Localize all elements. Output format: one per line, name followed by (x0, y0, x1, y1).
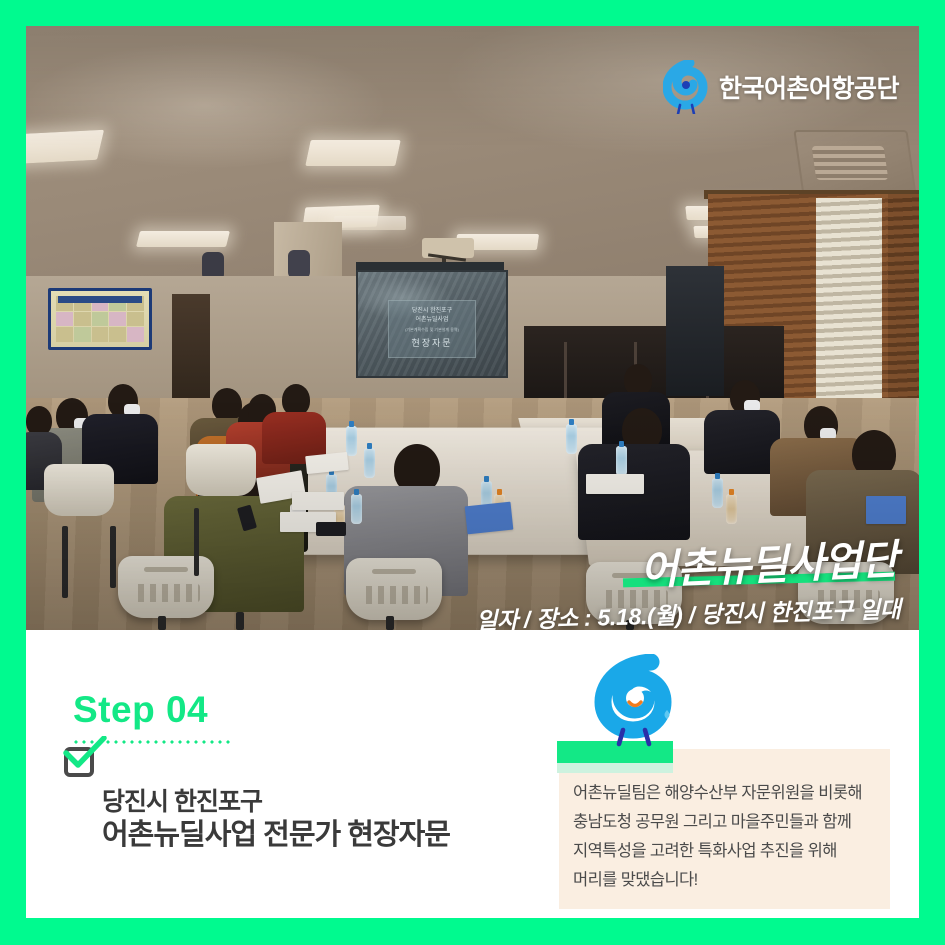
brochure (866, 496, 906, 524)
card-frame: 당진시 한진포구 어촌뉴딜사업 (기본계획수립 및 기본설계 용역) 현장자문 (0, 0, 945, 945)
brand-name: 한국어촌어항공단 (719, 69, 899, 105)
water-bottle (616, 446, 627, 476)
chair (346, 558, 442, 620)
projection-screen: 당진시 한진포구 어촌뉴딜사업 (기본계획수립 및 기본설계 용역) 현장자문 (356, 270, 508, 378)
green-bar-shadow (557, 763, 673, 773)
ceiling-projector (422, 238, 474, 258)
projection-slide: 당진시 한진포구 어촌뉴딜사업 (기본계획수립 및 기본설계 용역) 현장자문 (388, 300, 476, 358)
water-bottle (351, 494, 362, 524)
description-box: 어촌뉴딜팀은 해양수산부 자문위원을 비롯해 충남도청 공무원 그리고 마을주민… (559, 749, 890, 909)
water-drop-mascot-icon (663, 60, 709, 114)
headline-line-1: 당진시 한진포구 (102, 787, 450, 817)
slide-line1: 당진시 한진포구 (412, 308, 452, 314)
dark-panel (666, 266, 724, 396)
ceiling-light (136, 231, 230, 247)
window-blinds-edge (888, 194, 919, 426)
water-bottle (346, 426, 357, 456)
ceiling-vent (793, 130, 916, 196)
water-bottle (712, 478, 723, 508)
doorway (172, 294, 210, 412)
mascot-logo (583, 654, 693, 750)
brand-logo: 한국어촌어항공단 (663, 60, 899, 114)
wall-organization-chart (48, 288, 152, 350)
chair (44, 464, 114, 516)
slide-line3: (기본계획수립 및 기본설계 용역) (389, 325, 475, 334)
headline-block: 당진시 한진포구 어촌뉴딜사업 전문가 현장자문 (102, 787, 450, 853)
window-blinds-lit (816, 198, 882, 424)
chair (118, 556, 214, 618)
meeting-photo: 당진시 한진포구 어촌뉴딜사업 (기본계획수립 및 기본설계 용역) 현장자문 (26, 26, 919, 630)
slide-line2: 어촌뉴딜사업 (415, 317, 448, 323)
brochure (465, 502, 514, 535)
ceiling-light (305, 140, 401, 166)
ceiling-light (334, 216, 406, 230)
water-bottle (364, 448, 375, 478)
handwriting-title: 어촌뉴딜사업단 (639, 525, 898, 596)
screen-frame (356, 262, 504, 270)
document-paper (292, 492, 344, 510)
water-bottle (566, 424, 577, 454)
bottom-panel: Step 04 당진시 한진포구 어촌뉴딜사업 전문가 현장자문 어촌뉴딜팀은 … (26, 630, 919, 918)
ceiling-light (26, 130, 104, 164)
smartphone (316, 522, 346, 536)
step-label: Step 04 (73, 689, 208, 731)
headline-line-2: 어촌뉴딜사업 전문가 현장자문 (102, 817, 450, 853)
slide-line4: 현장자문 (389, 339, 475, 348)
check-mark-icon (63, 736, 107, 770)
beverage-bottle (726, 494, 737, 524)
water-drop-mascot-icon (583, 654, 693, 750)
description-text: 어촌뉴딜팀은 해양수산부 자문위원을 비롯해 충남도청 공무원 그리고 마을주민… (573, 779, 862, 895)
card-inner: 당진시 한진포구 어촌뉴딜사업 (기본계획수립 및 기본설계 용역) 현장자문 (26, 26, 919, 918)
chair (186, 444, 256, 496)
document-paper (586, 474, 644, 494)
